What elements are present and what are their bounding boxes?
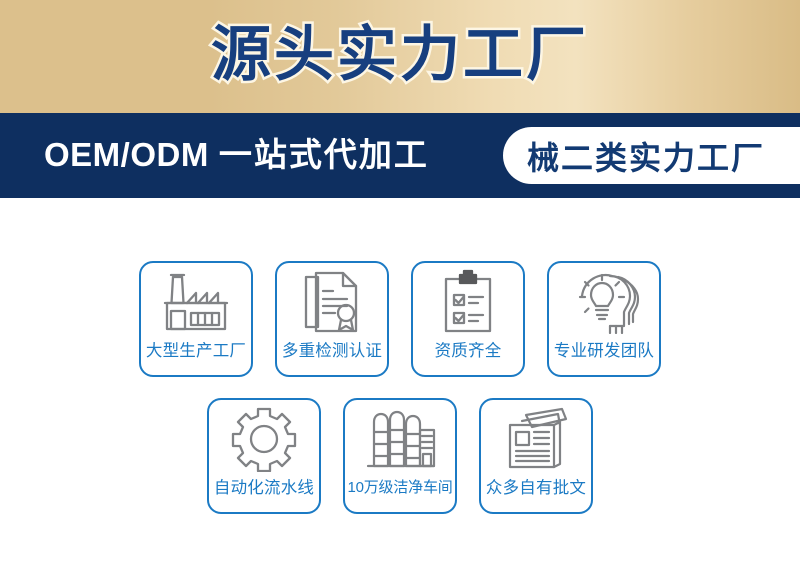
feature-card-label: 自动化流水线	[209, 478, 319, 498]
subheader-cn-text: 一站式代加工	[219, 136, 429, 173]
gear-icon	[209, 400, 319, 478]
open-document-icon	[481, 400, 591, 478]
feature-card-factory[interactable]: 大型生产工厂	[139, 261, 253, 377]
feature-card-qualifications[interactable]: 资质齐全	[411, 261, 525, 377]
page-title: 源头实力工厂	[0, 11, 800, 99]
feature-card-cleanroom[interactable]: 10万级洁净车间	[343, 398, 457, 514]
feature-card-label: 专业研发团队	[549, 341, 659, 361]
lightbulb-head-icon	[549, 263, 659, 341]
factory-icon	[141, 263, 251, 341]
feature-card-certification[interactable]: 多重检测认证	[275, 261, 389, 377]
certificate-icon	[277, 263, 387, 341]
qualification-pill-label: 械二类实力工厂	[527, 133, 765, 179]
feature-card-label: 大型生产工厂	[141, 341, 251, 361]
subheader-latin-text: OEM/ODM	[44, 136, 209, 173]
silo-plant-icon	[345, 400, 455, 478]
qualification-pill: 械二类实力工厂	[503, 127, 800, 184]
feature-card-approvals[interactable]: 众多自有批文	[479, 398, 593, 514]
promo-banner: 源头实力工厂 OEM/ODM一站式代加工 械二类实力工厂	[0, 0, 800, 561]
feature-cards-row-2: 自动化流水线 10万级洁净车间	[0, 398, 800, 514]
feature-card-label: 多重检测认证	[277, 341, 387, 361]
subheader-text: OEM/ODM一站式代加工	[44, 128, 429, 182]
feature-card-label: 资质齐全	[413, 341, 523, 361]
feature-card-label: 众多自有批文	[481, 478, 591, 498]
clipboard-checklist-icon	[413, 263, 523, 341]
feature-card-label: 10万级洁净车间	[345, 478, 455, 498]
feature-card-rnd-team[interactable]: 专业研发团队	[547, 261, 661, 377]
feature-card-automation-line[interactable]: 自动化流水线	[207, 398, 321, 514]
feature-cards-row-1: 大型生产工厂 多重检测认证	[0, 261, 800, 377]
